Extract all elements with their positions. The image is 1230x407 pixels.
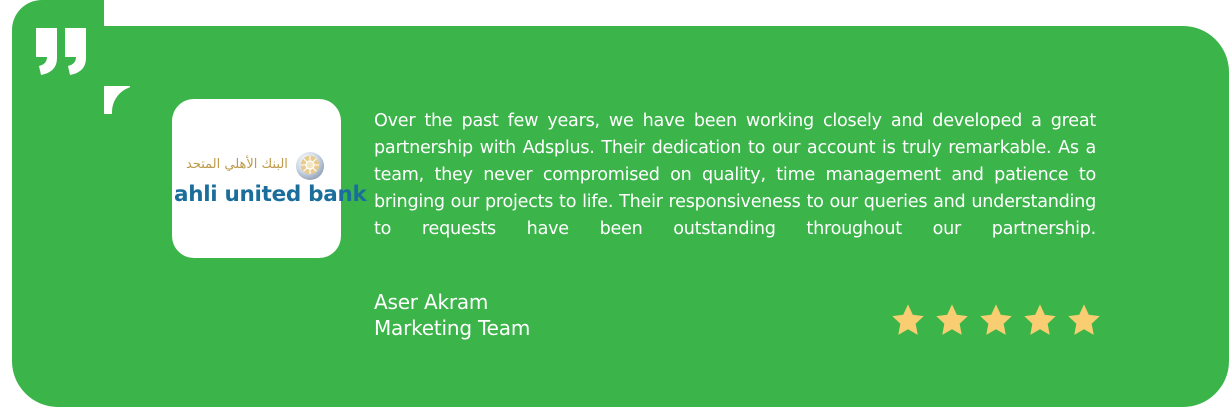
badge-notch xyxy=(104,86,130,114)
client-logo-tile: البنك الأهلي المتحد xyxy=(172,99,341,258)
testimonial-attribution: Aser Akram Marketing Team xyxy=(374,289,530,341)
quote-mark-icon xyxy=(36,28,88,76)
testimonial-quote-text: Over the past few years, we have been wo… xyxy=(374,108,1096,270)
testimonial-card-screenshot: البنك الأهلي المتحد xyxy=(0,0,1230,407)
star-icon-2 xyxy=(934,302,970,338)
client-logo: البنك الأهلي المتحد xyxy=(172,151,341,207)
logo-top-row: البنك الأهلي المتحد xyxy=(172,151,341,181)
logo-arabic-text: البنك الأهلي المتحد xyxy=(186,157,288,172)
logo-name-text: ahli united bank xyxy=(174,182,341,207)
author-name: Aser Akram xyxy=(374,289,530,315)
star-icon-3 xyxy=(978,302,1014,338)
author-role: Marketing Team xyxy=(374,315,530,341)
quote-badge xyxy=(12,0,104,105)
star-icon-1 xyxy=(890,302,926,338)
globe-emblem-icon xyxy=(295,151,325,181)
star-icon-5 xyxy=(1066,302,1102,338)
star-rating xyxy=(890,302,1102,338)
star-icon-4 xyxy=(1022,302,1058,338)
